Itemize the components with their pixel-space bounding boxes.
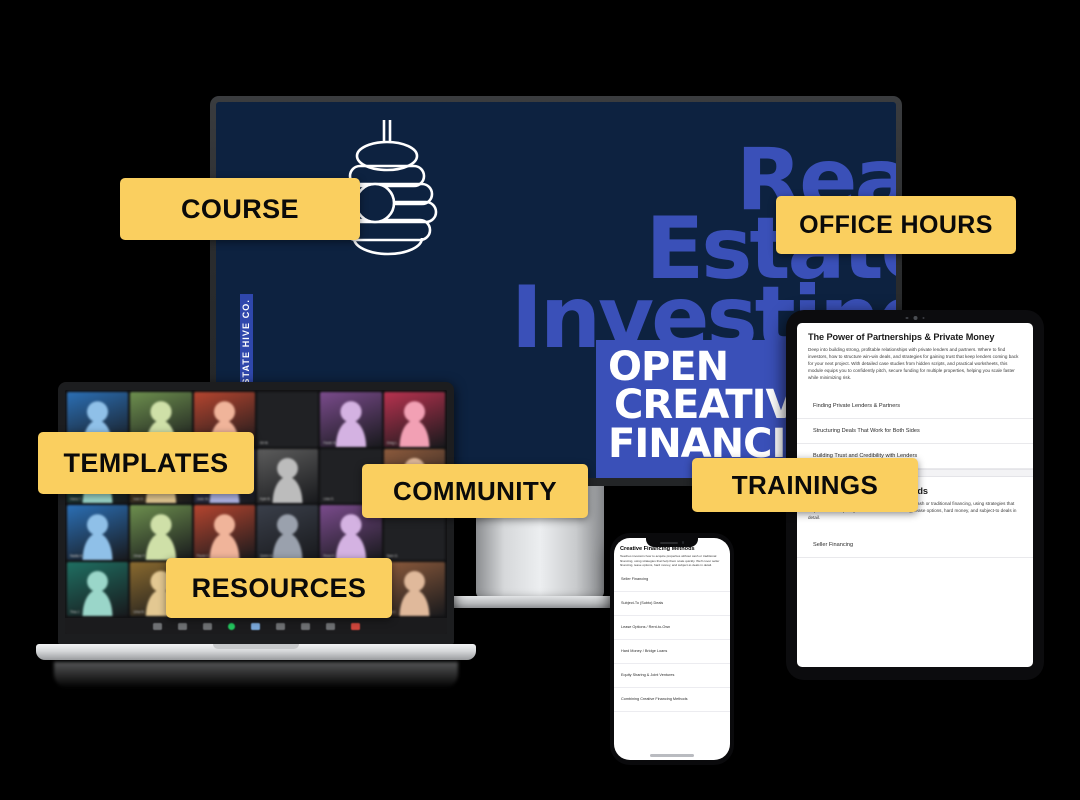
video-participant-tile[interactable]: Quinn A. — [257, 505, 318, 560]
share-screen-icon[interactable] — [228, 623, 235, 630]
badge-office-hours[interactable]: OFFICE HOURS — [776, 196, 1016, 254]
badge-community[interactable]: COMMUNITY — [362, 464, 588, 518]
badge-templates[interactable]: TEMPLATES — [38, 432, 254, 494]
reactions-icon[interactable] — [301, 623, 310, 630]
phone-list-item[interactable]: Equity Sharing & Joint Ventures — [614, 664, 730, 688]
phone-screen: Creative Financing Methods Teaches inves… — [614, 538, 730, 760]
participant-name-label: Ivan D. — [133, 497, 144, 501]
leave-call-button[interactable] — [351, 623, 360, 630]
participant-name-label: Sam G. — [387, 554, 399, 558]
participant-name-label: Greg L. — [387, 441, 398, 445]
badge-trainings[interactable]: TRAININGS — [692, 458, 918, 512]
phone-speaker-icon — [660, 542, 678, 544]
mockup-stage: REAL ESTATE HIVE CO. Real Estate Investi… — [0, 0, 1080, 800]
video-participant-tile[interactable]: Tina J. — [67, 562, 128, 617]
video-button-icon[interactable] — [178, 623, 187, 630]
participant-name-label: Quinn A. — [260, 554, 273, 558]
laptop-device: Amanda R.Chris P.Dana K.Eli M.Farah S.Gr… — [36, 382, 476, 682]
laptop-reflection — [54, 662, 458, 688]
video-participant-tile[interactable]: Eli M. — [257, 392, 318, 447]
tablet-list-item[interactable]: Finding Private Lenders & Partners — [797, 394, 1033, 419]
participant-name-label: Tina J. — [70, 610, 80, 614]
participant-name-label: Farah S. — [323, 441, 336, 445]
tablet-section-1-body: Deep into building strong, profitable re… — [808, 346, 1022, 382]
badge-resources[interactable]: RESOURCES — [166, 558, 392, 618]
participant-name-label: Uma N. — [133, 610, 145, 614]
video-participant-tile[interactable]: Omar F. — [130, 505, 191, 560]
participant-name-label: Nadia H. — [70, 554, 83, 558]
record-icon[interactable] — [276, 623, 285, 630]
video-call-toolbar[interactable] — [65, 618, 447, 634]
phone-list-item[interactable]: Combining Creative Financing Methods — [614, 688, 730, 712]
phone-list-item[interactable]: Subject-To (Subto) Deals — [614, 592, 730, 616]
phone-device: Creative Financing Methods Teaches inves… — [610, 533, 734, 765]
video-participant-tile[interactable]: Paula C. — [194, 505, 255, 560]
badge-course[interactable]: COURSE — [120, 178, 360, 240]
participant-name-label: Kyle B. — [260, 497, 271, 501]
tablet-camera-icon — [906, 316, 925, 320]
chat-icon[interactable] — [251, 623, 260, 630]
phone-list: Seller FinancingSubject-To (Subto) Deals… — [614, 568, 730, 712]
participant-name-label: Omar F. — [133, 554, 145, 558]
video-participant-tile[interactable]: Kyle B. — [257, 449, 318, 504]
phone-list-item[interactable]: Hard Money / Bridge Loans — [614, 640, 730, 664]
participant-name-label: Eli M. — [260, 441, 268, 445]
phone-list-item[interactable]: Lease Options / Rent-to-Own — [614, 616, 730, 640]
video-participant-tile[interactable]: Greg L. — [384, 392, 445, 447]
participant-name-label: Jade W. — [197, 497, 209, 501]
participant-name-label: Lina O. — [323, 497, 334, 501]
video-participant-tile[interactable]: Yara I. — [384, 562, 445, 617]
phone-home-indicator — [650, 754, 694, 757]
phone-camera-icon — [682, 541, 685, 544]
laptop-latch-notch — [213, 644, 299, 649]
participant-name-label: Paula C. — [197, 554, 210, 558]
phone-body: Teaches investors how to acquire propert… — [614, 554, 730, 568]
tablet-section-partnerships: The Power of Partnerships & Private Mone… — [797, 323, 1033, 386]
tablet-section-2-list: Seller Financing — [797, 533, 1033, 558]
video-participant-tile[interactable]: Farah S. — [320, 392, 381, 447]
video-participant-tile[interactable]: Nadia H. — [67, 505, 128, 560]
tablet-section-1-heading: The Power of Partnerships & Private Mone… — [808, 332, 1022, 342]
mute-button-icon[interactable] — [153, 623, 162, 630]
tablet-list-item[interactable]: Structuring Deals That Work for Both Sid… — [797, 419, 1033, 444]
participants-icon[interactable] — [203, 623, 212, 630]
participant-name-label: Rosa E. — [323, 554, 335, 558]
phone-notch — [646, 538, 698, 547]
participant-name-label: Hana T. — [70, 497, 82, 501]
phone-list-item[interactable]: Seller Financing — [614, 568, 730, 592]
tablet-list-item[interactable]: Seller Financing — [797, 533, 1033, 558]
more-options-icon[interactable] — [326, 623, 335, 630]
